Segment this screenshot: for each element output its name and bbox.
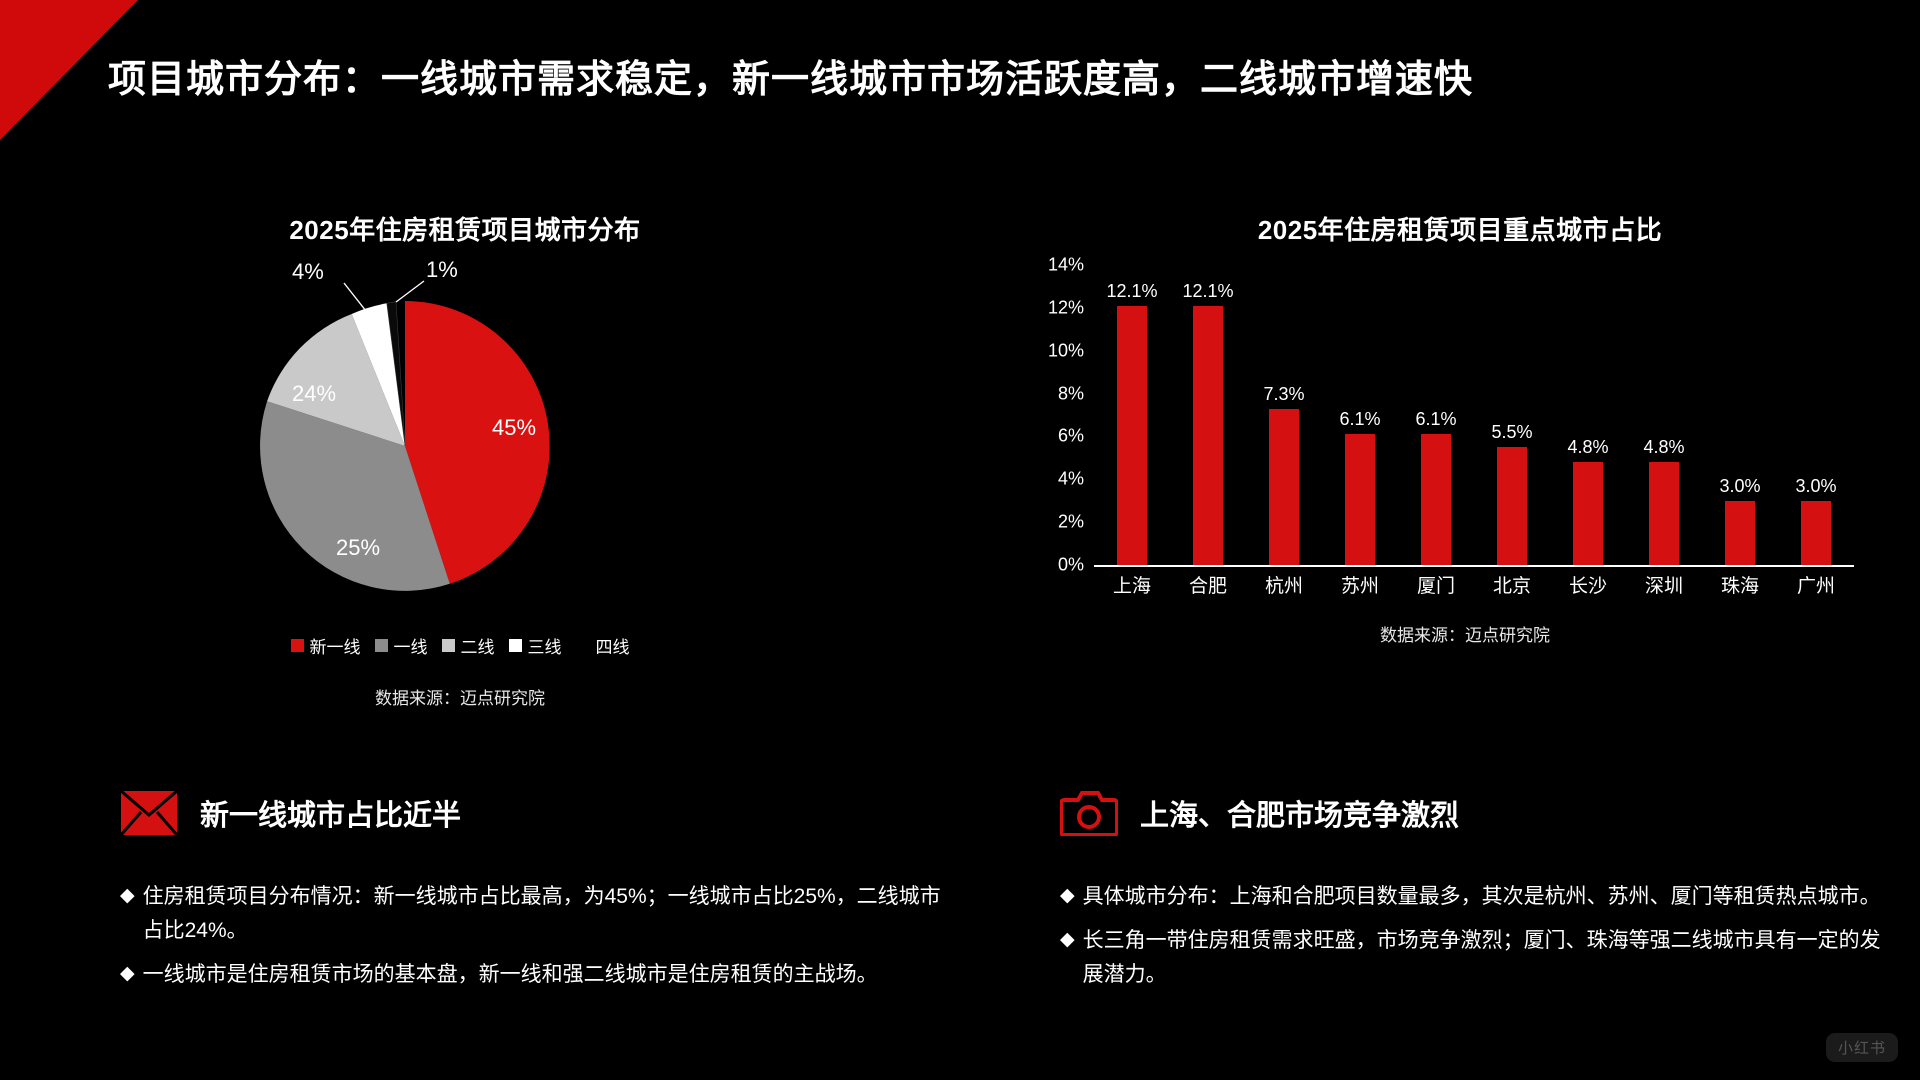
- bullet-text: 具体城市分布：上海和合肥项目数量最多，其次是杭州、苏州、厦门等租赁热点城市。: [1083, 880, 1890, 914]
- envelope-icon: [120, 790, 178, 836]
- bar-rect: [1725, 501, 1755, 565]
- bar-column-zhuhai[interactable]: 3.0%: [1710, 265, 1770, 565]
- legend-swatch-icon-yixian: [375, 639, 388, 652]
- bar-chart-panel: 2025年住房租赁项目重点城市占比 14% 12% 10% 8% 6% 4% 2…: [1000, 210, 1900, 770]
- bar-chart-x-axis: 上海 合肥 杭州 苏州 厦门 北京 长沙 深圳 珠海 广州: [1094, 571, 1854, 598]
- list-item: ◆ 长三角一带住房租赁需求旺盛，市场竞争激烈；厦门、珠海等强二线城市具有一定的发…: [1060, 924, 1890, 992]
- watermark-badge: 小红书: [1826, 1033, 1898, 1062]
- list-item: ◆ 住房租赁项目分布情况：新一线城市占比最高，为45%；一线城市占比25%，二线…: [120, 880, 950, 948]
- callout-right-bullets: ◆ 具体城市分布：上海和合肥项目数量最多，其次是杭州、苏州、厦门等租赁热点城市。…: [1060, 880, 1890, 992]
- bar-chart-title: 2025年住房租赁项目重点城市占比: [1020, 210, 1900, 247]
- y-tick-8: 8%: [1058, 383, 1084, 404]
- pie-source-note: 数据来源：迈点研究院: [0, 684, 960, 709]
- callout-right: 上海、合肥市场竞争激烈 ◆ 具体城市分布：上海和合肥项目数量最多，其次是杭州、苏…: [1060, 790, 1890, 1002]
- bar-rect: [1421, 434, 1451, 565]
- pie-chart-panel: 2025年住房租赁项目城市分布 4% 1% 24% 25% 45%: [40, 210, 960, 770]
- x-label-shenzhen: 深圳: [1634, 571, 1694, 598]
- legend-swatch-icon-sanxian: [509, 639, 522, 652]
- legend-label-yixian: 一线: [394, 633, 428, 658]
- x-label-changsha: 长沙: [1558, 571, 1618, 598]
- x-label-shanghai: 上海: [1102, 571, 1162, 598]
- bullet-marker-icon: ◆: [120, 880, 135, 948]
- pie-leader-line-sixian: [396, 281, 424, 302]
- x-label-zhuhai: 珠海: [1710, 571, 1770, 598]
- legend-item-xinyixian[interactable]: 新一线: [291, 633, 361, 658]
- bar-column-suzhou[interactable]: 6.1%: [1330, 265, 1390, 565]
- bullet-text: 长三角一带住房租赁需求旺盛，市场竞争激烈；厦门、珠海等强二线城市具有一定的发展潜…: [1083, 924, 1890, 992]
- y-tick-6: 6%: [1058, 426, 1084, 447]
- bar-column-beijing[interactable]: 5.5%: [1482, 265, 1542, 565]
- bar-value-label: 7.3%: [1263, 384, 1304, 405]
- callout-left-bullets: ◆ 住房租赁项目分布情况：新一线城市占比最高，为45%；一线城市占比25%，二线…: [120, 880, 950, 992]
- callout-left-heading: 新一线城市占比近半: [200, 792, 461, 834]
- bar-rect: [1193, 306, 1223, 565]
- bar-column-changsha[interactable]: 4.8%: [1558, 265, 1618, 565]
- camera-icon: [1060, 790, 1118, 836]
- callout-left: 新一线城市占比近半 ◆ 住房租赁项目分布情况：新一线城市占比最高，为45%；一线…: [120, 790, 950, 1002]
- y-tick-12: 12%: [1048, 297, 1084, 318]
- pie-leader-line-sanxian: [344, 283, 366, 311]
- legend-label-sanxian: 三线: [528, 633, 562, 658]
- legend-label-xinyixian: 新一线: [310, 633, 361, 658]
- bar-column-shenzhen[interactable]: 4.8%: [1634, 265, 1694, 565]
- bar-value-label: 12.1%: [1106, 281, 1157, 302]
- legend-swatch-icon-xinyixian: [291, 639, 304, 652]
- bar-chart-plot-area: 12.1% 12.1% 7.3% 6.1% 6.1% 5.5%: [1094, 265, 1854, 567]
- bar-rect: [1573, 462, 1603, 565]
- x-label-guangzhou: 广州: [1786, 571, 1846, 598]
- bar-column-hangzhou[interactable]: 7.3%: [1254, 265, 1314, 565]
- bar-value-label: 5.5%: [1491, 422, 1532, 443]
- bullet-text: 住房租赁项目分布情况：新一线城市占比最高，为45%；一线城市占比25%，二线城市…: [143, 880, 950, 948]
- y-tick-14: 14%: [1048, 255, 1084, 276]
- bar-value-label: 3.0%: [1795, 476, 1836, 497]
- bar-value-label: 4.8%: [1643, 437, 1684, 458]
- list-item: ◆ 具体城市分布：上海和合肥项目数量最多，其次是杭州、苏州、厦门等租赁热点城市。: [1060, 880, 1890, 914]
- bullet-marker-icon: ◆: [1060, 924, 1075, 992]
- pie-legend: 新一线 一线 二线 三线 四线: [0, 633, 960, 658]
- bullet-marker-icon: ◆: [1060, 880, 1075, 914]
- x-label-hefei: 合肥: [1178, 571, 1238, 598]
- legend-item-erxian[interactable]: 二线: [442, 633, 495, 658]
- x-label-suzhou: 苏州: [1330, 571, 1390, 598]
- bar-rect: [1649, 462, 1679, 565]
- y-tick-4: 4%: [1058, 469, 1084, 490]
- bar-column-xiamen[interactable]: 6.1%: [1406, 265, 1466, 565]
- bar-value-label: 3.0%: [1719, 476, 1760, 497]
- bar-value-label: 4.8%: [1567, 437, 1608, 458]
- bar-value-label: 6.1%: [1339, 409, 1380, 430]
- bar-rect: [1269, 409, 1299, 565]
- x-label-hangzhou: 杭州: [1254, 571, 1314, 598]
- bar-column-guangzhou[interactable]: 3.0%: [1786, 265, 1846, 565]
- bar-column-shanghai[interactable]: 12.1%: [1102, 265, 1162, 565]
- x-label-xiamen: 厦门: [1406, 571, 1466, 598]
- bar-value-label: 6.1%: [1415, 409, 1456, 430]
- bar-chart-y-axis: 14% 12% 10% 8% 6% 4% 2% 0%: [1034, 265, 1090, 565]
- page-title: 项目城市分布：一线城市需求稳定，新一线城市市场活跃度高，二线城市增速快: [108, 48, 1473, 103]
- pie-chart-title: 2025年住房租赁项目城市分布: [0, 210, 960, 247]
- y-tick-2: 2%: [1058, 512, 1084, 533]
- callout-left-header: 新一线城市占比近半: [120, 790, 950, 836]
- legend-label-sixian: 四线: [596, 633, 630, 658]
- bar-chart: 14% 12% 10% 8% 6% 4% 2% 0% 12.1% 12.1% 7…: [1034, 265, 1864, 595]
- legend-label-erxian: 二线: [461, 633, 495, 658]
- callout-right-header: 上海、合肥市场竞争激烈: [1060, 790, 1890, 836]
- bar-column-hefei[interactable]: 12.1%: [1178, 265, 1238, 565]
- bar-rect: [1801, 501, 1831, 565]
- bar-source-note: 数据来源：迈点研究院: [1030, 621, 1900, 646]
- bullet-marker-icon: ◆: [120, 958, 135, 992]
- pie-chart: 4% 1% 24% 25% 45%: [240, 271, 660, 611]
- legend-swatch-icon-erxian: [442, 639, 455, 652]
- x-label-beijing: 北京: [1482, 571, 1542, 598]
- bullet-text: 一线城市是住房租赁市场的基本盘，新一线和强二线城市是住房租赁的主战场。: [143, 958, 950, 992]
- legend-item-sixian[interactable]: 四线: [590, 633, 630, 658]
- y-tick-10: 10%: [1048, 340, 1084, 361]
- bar-rect: [1497, 447, 1527, 565]
- bar-value-label: 12.1%: [1182, 281, 1233, 302]
- bar-rect: [1345, 434, 1375, 565]
- pie-svg: [240, 271, 660, 611]
- callout-right-heading: 上海、合肥市场竞争激烈: [1140, 792, 1459, 834]
- slide-header: 项目城市分布：一线城市需求稳定，新一线城市市场活跃度高，二线城市增速快: [0, 0, 1920, 148]
- legend-item-yixian[interactable]: 一线: [375, 633, 428, 658]
- list-item: ◆ 一线城市是住房租赁市场的基本盘，新一线和强二线城市是住房租赁的主战场。: [120, 958, 950, 992]
- legend-item-sanxian[interactable]: 三线: [509, 633, 562, 658]
- y-tick-0: 0%: [1058, 555, 1084, 576]
- bar-rect: [1117, 306, 1147, 565]
